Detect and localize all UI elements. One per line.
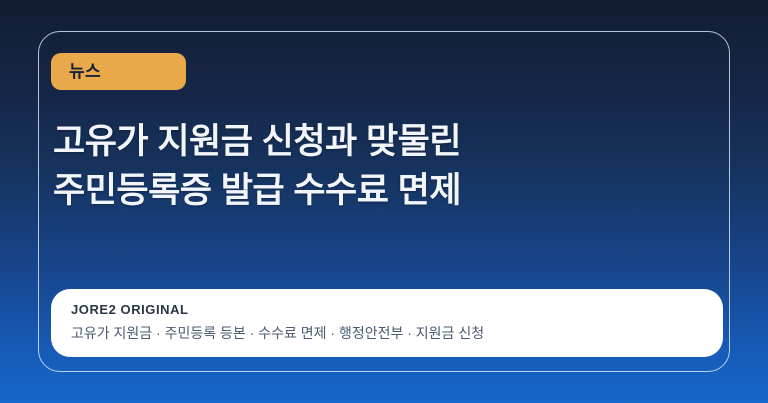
category-badge[interactable]: 뉴스 xyxy=(51,53,186,90)
content-card: 뉴스 고유가 지원금 신청과 맞물린 주민등록증 발급 수수료 면제 JORE2… xyxy=(38,31,730,372)
footer-card: JORE2 ORIGINAL 고유가 지원금 · 주민등록 등본 · 수수료 면… xyxy=(51,289,723,357)
headline-line-2: 주민등록증 발급 수수료 면제 xyxy=(53,166,693,215)
brand-label: JORE2 ORIGINAL xyxy=(71,302,703,318)
headline-line-1: 고유가 지원금 신청과 맞물린 xyxy=(53,117,693,166)
tag-line: 고유가 지원금 · 주민등록 등본 · 수수료 면제 · 행정안전부 · 지원금… xyxy=(71,325,703,343)
headline: 고유가 지원금 신청과 맞물린 주민등록증 발급 수수료 면제 xyxy=(53,117,693,215)
news-card-canvas: 뉴스 고유가 지원금 신청과 맞물린 주민등록증 발급 수수료 면제 JORE2… xyxy=(0,0,768,403)
category-badge-label: 뉴스 xyxy=(69,63,101,80)
